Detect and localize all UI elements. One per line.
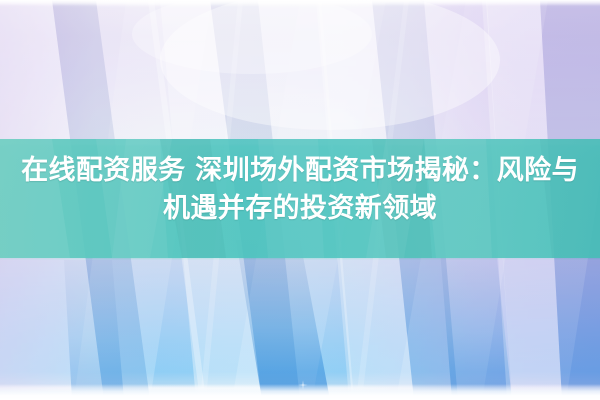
sparkle-icon <box>296 378 310 392</box>
promo-banner: 在线配资服务 深圳场外配资市场揭秘：风险与机遇并存的投资新领域 <box>0 0 600 400</box>
top-edge-fade <box>0 0 600 6</box>
banner-title-text: 在线配资服务 深圳场外配资市场揭秘：风险与机遇并存的投资新领域 <box>12 152 588 228</box>
banner-title: 在线配资服务 深圳场外配资市场揭秘：风险与机遇并存的投资新领域 <box>0 152 600 228</box>
